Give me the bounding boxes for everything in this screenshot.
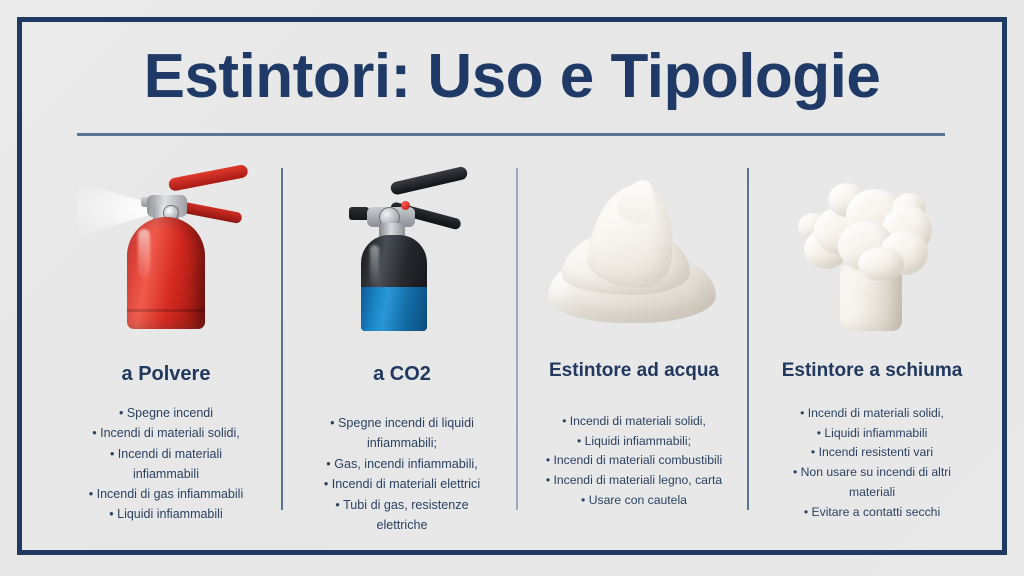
list-item: • Liquidi infiammabili xyxy=(52,504,280,524)
red-extinguisher-icon xyxy=(81,169,251,341)
column-heading-co2: a CO2 xyxy=(288,363,516,385)
bullet-list-schiuma: • Incendi di materiali solidi, • Liquidi… xyxy=(753,404,991,523)
list-item: infiammabili xyxy=(52,464,280,484)
list-item: • Incendi di materiali solidi, xyxy=(753,404,991,424)
powder-extinguisher-illustration xyxy=(52,165,280,340)
list-item: infiammabili; xyxy=(288,433,516,453)
list-item: • Gas, incendi infiammabili, xyxy=(288,454,516,474)
bullet-list-co2: • Spegne incendi di liquidi infiammabili… xyxy=(288,413,516,535)
water-swirl-illustration xyxy=(521,165,747,340)
list-item: • Tubi di gas, resistenze xyxy=(288,495,516,515)
column-co2: a CO2 • Spegne incendi di liquidi infiam… xyxy=(288,165,516,515)
column-divider-3 xyxy=(747,168,749,510)
bullet-list-acqua: • Incendi di materiali solidi, • Liquidi… xyxy=(521,412,747,511)
list-item: • Spegne incendi di liquidi xyxy=(288,413,516,433)
water-swirl-icon xyxy=(546,177,722,337)
co2-extinguisher-illustration xyxy=(288,165,516,340)
column-schiuma: Estintore a schiuma • Incendi di materia… xyxy=(753,165,991,515)
list-item: • Liquidi infiammabili; xyxy=(521,432,747,452)
list-item: • Liquidi infiammabili xyxy=(753,424,991,444)
extinguisher-upper-lever xyxy=(168,164,249,192)
list-item: • Incendi di materiali legno, carta xyxy=(521,471,747,491)
list-item: • Usare con cautela xyxy=(521,491,747,511)
title-divider-rule xyxy=(77,133,945,136)
list-item: • Evitare a contatti secchi xyxy=(753,503,991,523)
list-item: • Incendi di gas infiammabili xyxy=(52,484,280,504)
list-item: • Incendi di materiali elettrici xyxy=(288,474,516,494)
list-item: • Incendi di materiali solidi, xyxy=(52,423,280,443)
list-item: • Incendi di materiali combustibili xyxy=(521,451,747,471)
column-divider-1 xyxy=(281,168,283,510)
column-acqua: Estintore ad acqua • Incendi di material… xyxy=(521,165,747,515)
list-item: • Non usare su incendi di altri xyxy=(753,463,991,483)
column-heading-polvere: a Polvere xyxy=(52,363,280,385)
co2-upper-lever xyxy=(390,166,469,196)
co2-cylinder-highlight xyxy=(370,245,379,285)
list-item: elettriche xyxy=(288,515,516,535)
slide-canvas: Estintori: Uso e Tipologie a Polvere • S… xyxy=(0,0,1024,576)
page-title: Estintori: Uso e Tipologie xyxy=(0,44,1024,109)
co2-nozzle xyxy=(349,207,369,220)
column-divider-2 xyxy=(516,168,518,510)
foam-illustration xyxy=(753,165,991,340)
list-item: • Spegne incendi xyxy=(52,403,280,423)
bullet-list-polvere: • Spegne incendi • Incendi di materiali … xyxy=(52,403,280,525)
column-heading-schiuma: Estintore a schiuma xyxy=(753,361,991,382)
foam-burst-icon xyxy=(784,175,960,337)
co2-extinguisher-icon xyxy=(317,169,487,341)
list-item: • Incendi di materiali solidi, xyxy=(521,412,747,432)
column-polvere: a Polvere • Spegne incendi • Incendi di … xyxy=(52,165,280,515)
list-item: materiali xyxy=(753,483,991,503)
foam-bubble xyxy=(858,247,904,281)
list-item: • Incendi di materiali xyxy=(52,444,280,464)
cylinder-highlight xyxy=(138,229,150,277)
co2-blue-band xyxy=(361,287,427,331)
list-item: • Incendi resistenti vari xyxy=(753,443,991,463)
co2-safety-pin-icon xyxy=(401,201,410,210)
column-heading-acqua: Estintore ad acqua xyxy=(521,361,747,382)
